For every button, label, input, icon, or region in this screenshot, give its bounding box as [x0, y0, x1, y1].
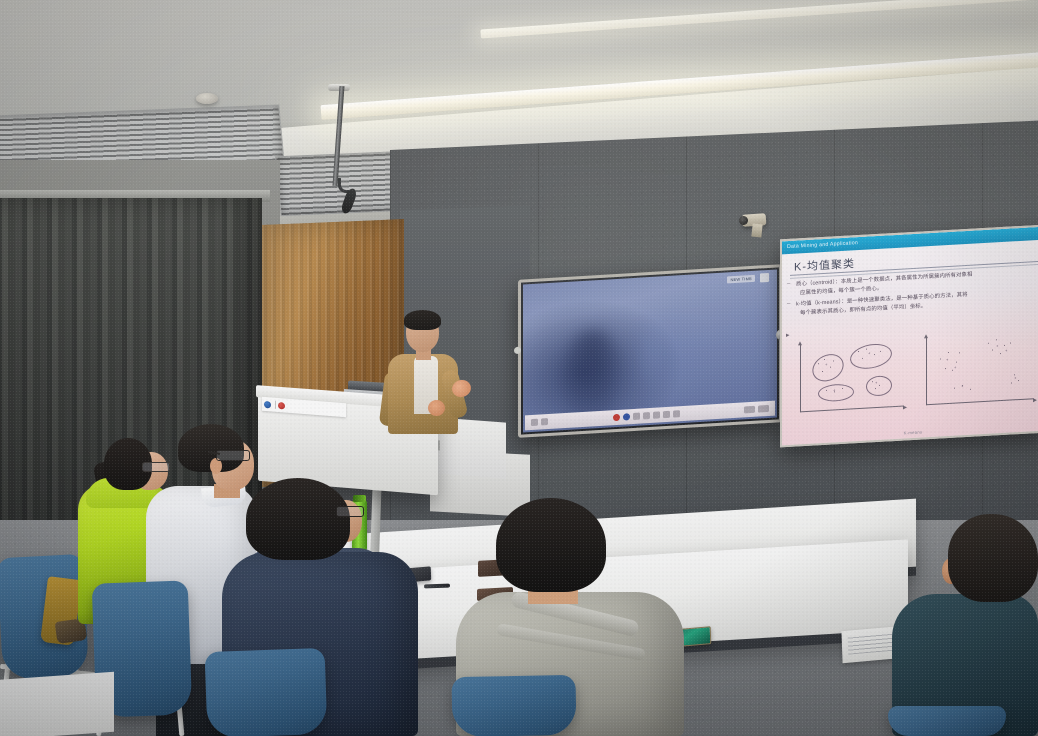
presenter-hair	[404, 310, 441, 330]
presentation-slide: Data Mining and Application K-均值聚类 – 质心（…	[782, 227, 1038, 446]
page-prev-icon[interactable]	[744, 406, 755, 414]
menu-icon[interactable]	[531, 419, 538, 426]
pen-icon[interactable]	[633, 413, 640, 420]
chair-backrest[interactable]	[451, 675, 576, 736]
slide-footer: K-means	[904, 429, 923, 435]
cluster-ring-3	[818, 383, 854, 402]
attendee-glasses-icon	[142, 462, 170, 472]
attendee-glasses-icon	[216, 450, 250, 461]
whiteboard-corner-badge: NEW TIME	[727, 275, 755, 284]
presentation-display[interactable]: Data Mining and Application K-均值聚类 – 质心（…	[780, 225, 1038, 448]
whiteboard-glow	[635, 329, 665, 396]
select-icon[interactable]	[673, 410, 680, 417]
plot-x-axis	[800, 406, 904, 413]
plot2-y-axis	[926, 337, 927, 405]
attendee-hair	[246, 478, 350, 560]
color-icon[interactable]	[623, 413, 630, 420]
slide-header-text: Data Mining and Application	[787, 239, 858, 252]
record-icon[interactable]	[613, 414, 620, 421]
page-next-icon[interactable]	[758, 405, 769, 413]
bank-logo-mark-icon	[264, 400, 271, 408]
camera-bracket	[751, 224, 762, 238]
attendee-glasses-icon	[336, 506, 364, 517]
plot2-x-axis	[926, 398, 1034, 405]
slide-side-glyph: ▸	[786, 331, 790, 339]
whiteboard-sensor-icon	[514, 347, 521, 354]
cluster-ring-2	[849, 341, 894, 372]
text-icon[interactable]	[663, 411, 670, 418]
attendee-hair	[948, 514, 1038, 602]
training-table-left	[0, 672, 114, 736]
whiteboard-close-icon[interactable]	[760, 273, 769, 283]
bottle-cap[interactable]	[353, 495, 366, 502]
whiteboard-canvas[interactable]: NEW TIME	[523, 269, 777, 432]
presenter-left-hand	[428, 400, 445, 416]
bank-logo-blue	[264, 400, 273, 408]
slide-plot-scatter: + + + + + +	[926, 331, 1034, 405]
bullet-marker-2: –	[787, 301, 790, 307]
toolbar-spacer	[551, 418, 610, 421]
partner-logo-mark-icon	[278, 401, 285, 409]
chair-backrest[interactable]	[888, 706, 1006, 736]
chair-backrest[interactable]	[205, 648, 328, 736]
conference-room-photo: NEW TIME Data Mi	[0, 0, 1038, 736]
undo-icon[interactable]	[541, 418, 548, 425]
eraser-icon[interactable]	[643, 412, 650, 419]
toolbar-spacer-2	[683, 410, 742, 413]
slide-plot-clusters: + + + +	[800, 339, 904, 413]
shape-icon[interactable]	[653, 411, 660, 418]
partner-logo-red	[278, 401, 287, 409]
interactive-whiteboard-display[interactable]: NEW TIME	[518, 264, 782, 438]
whiteboard-silhouette	[564, 329, 620, 418]
bullet-marker-1: –	[787, 281, 790, 287]
cluster-ring-1	[808, 349, 847, 386]
camera-lens-icon	[739, 216, 748, 225]
plot-y-axis	[800, 344, 801, 412]
smoke-detector-icon	[196, 93, 218, 104]
logo-divider	[275, 401, 276, 409]
attendee-hair	[496, 498, 606, 592]
